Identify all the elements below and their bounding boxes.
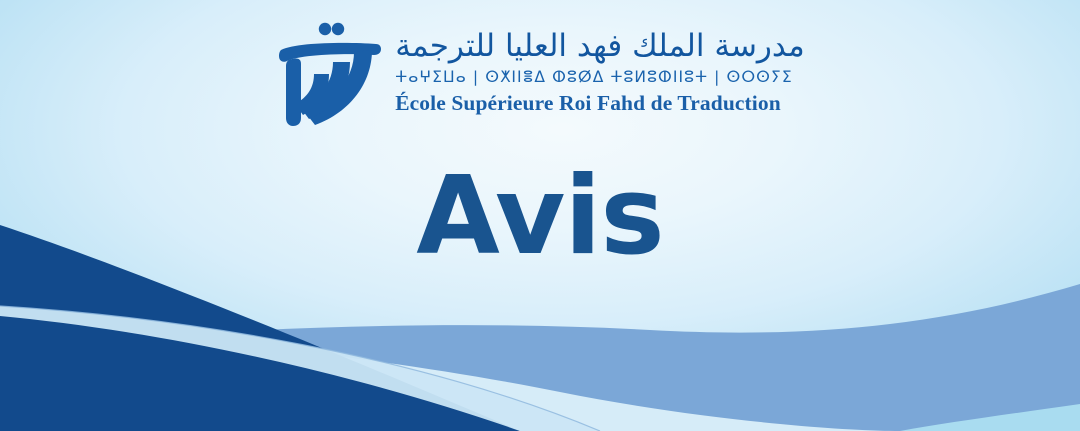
institution-name-tifinagh: ⵜⴰⵖⵉⵡⴰ | ⵙⵅⵏⵏⴻⵠ ⵀⵓⵁⵠ ⵜⵓⵍⵓⵀⵏⵏⵓⵜ | ⵙⵔⵙⵢⵉ [395,68,793,87]
institution-identity: مدرسة الملك فهد العليا للترجمة ⵜⴰⵖⵉⵡⴰ | … [0,18,1080,132]
avis-banner: مدرسة الملك فهد العليا للترجمة ⵜⴰⵖⵉⵡⴰ | … [0,0,1080,431]
logo-stem [286,59,301,126]
institution-name-french: École Supérieure Roi Fahd de Traduction [395,91,781,117]
logo-dot-right [332,23,344,35]
institution-name-arabic: مدرسة الملك فهد العليا للترجمة [395,28,805,65]
school-logo-icon [275,20,387,132]
wave-band-medium [0,284,1080,431]
page-title: Avis [0,163,1080,271]
wave-sliver-pale [0,306,600,431]
logo-dot-left [319,23,331,35]
wave-band-pale [0,330,900,431]
institution-names: مدرسة الملك فهد العليا للترجمة ⵜⴰⵖⵉⵡⴰ | … [395,18,805,117]
wave-highlight-line [0,306,600,431]
wave-sliver-light [900,404,1080,431]
